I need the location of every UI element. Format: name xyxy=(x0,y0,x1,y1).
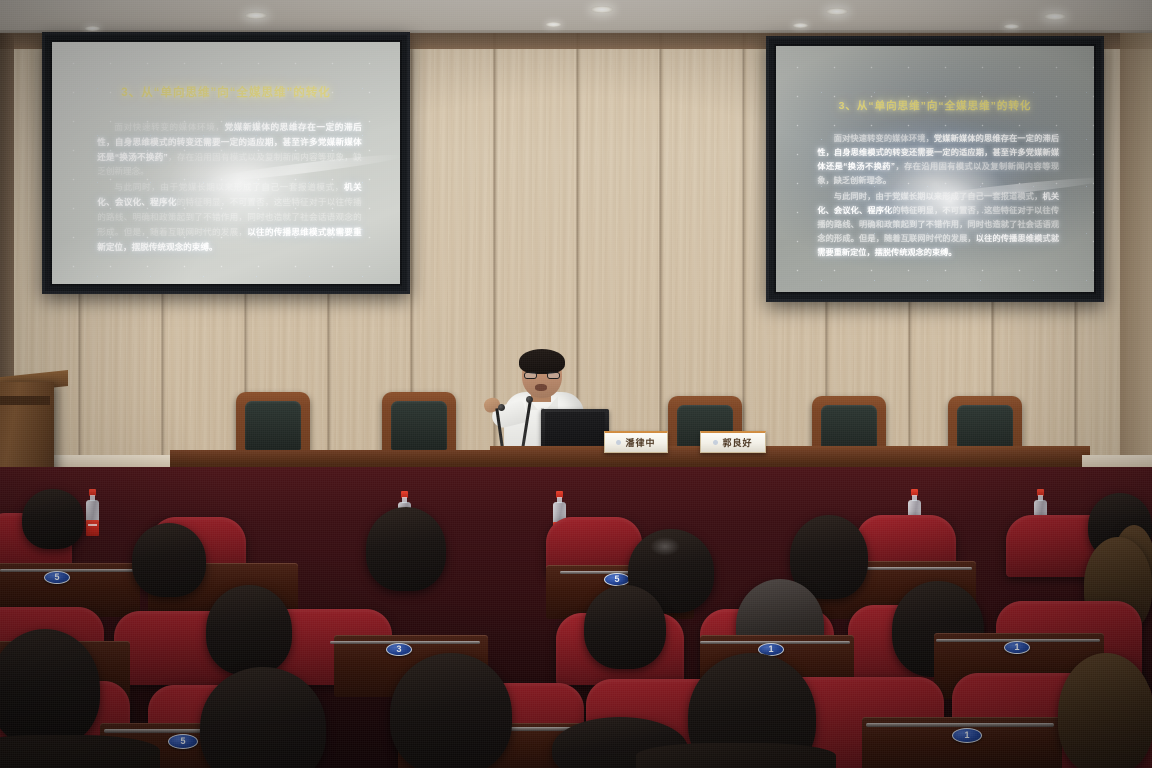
speaker-collar-right xyxy=(546,396,558,410)
audience-head xyxy=(390,653,512,768)
speaker-hair xyxy=(519,349,565,374)
seat-number-badge: 5 xyxy=(44,571,70,584)
ceiling-downlight xyxy=(546,22,561,27)
seat-number-label: 5 xyxy=(180,737,185,746)
seat-rail xyxy=(866,723,1054,727)
ceiling-downlight xyxy=(826,8,848,15)
slide-p1-seg1: 面对快速转变的媒体环境， xyxy=(114,122,224,132)
audience-head xyxy=(584,585,666,669)
nameplate: 潘律中 xyxy=(604,431,668,453)
screen-bezel-left: 3、从“单向思维”向“全媒思维”的转化 面对快速转变的媒体环境，党媒新媒体的思维… xyxy=(50,40,402,286)
audience-head xyxy=(132,523,206,597)
ceiling-downlight xyxy=(85,26,100,31)
bottle-label xyxy=(86,520,99,536)
audience-head xyxy=(0,629,100,747)
ceiling-downlight xyxy=(591,6,613,13)
nameplate: 郭良好 xyxy=(700,431,766,453)
seat-number-label: 1 xyxy=(964,731,969,740)
seat-number-badge: 5 xyxy=(168,734,198,749)
ceiling-downlight xyxy=(245,12,267,19)
slide-surface-right: 3、从“单向思维”向“全媒思维”的转化 面对快速转变的媒体环境，党媒新媒体的思维… xyxy=(776,46,1094,292)
water-bottle[interactable] xyxy=(86,489,99,537)
slide-surface-left: 3、从“单向思维”向“全媒思维”的转化 面对快速转变的媒体环境，党媒新媒体的思维… xyxy=(52,42,400,284)
microphone-head xyxy=(526,396,533,403)
nameplate-label: 潘律中 xyxy=(625,436,655,449)
seat-number-label: 5 xyxy=(614,575,619,584)
seat-number-label: 1 xyxy=(1014,643,1019,652)
ceiling-downlight xyxy=(793,23,808,28)
audience-head xyxy=(366,507,446,591)
nameplate-label: 郭良好 xyxy=(722,436,752,449)
seat-number-badge: 1 xyxy=(952,728,982,743)
projection-screen-left[interactable]: 3、从“单向思维”向“全媒思维”的转化 面对快速转变的媒体环境，党媒新媒体的思维… xyxy=(42,32,410,294)
wall-right-strip xyxy=(1120,33,1152,465)
ceiling-downlight xyxy=(1004,24,1019,29)
audience-head xyxy=(22,489,84,549)
water-bottle[interactable] xyxy=(761,414,774,462)
stage-chair[interactable] xyxy=(382,392,456,454)
microphone-head xyxy=(498,404,505,411)
projection-screen-right[interactable]: 3、从“单向思维”向“全媒思维”的转化 面对快速转变的媒体环境，党媒新媒体的思维… xyxy=(766,36,1104,302)
ceiling xyxy=(0,0,1152,34)
slide-p2-seg1: 与此同时，由于党媒长期以来形成了自己一套报道模式， xyxy=(114,182,344,192)
slide-p1-seg1: 面对快速转变的媒体环境， xyxy=(834,134,934,143)
slide-p1-seg3: “换汤不换药” xyxy=(843,162,895,171)
ceiling-downlight xyxy=(1044,13,1066,20)
lecture-hall-photo: 3、从“单向思维”向“全媒思维”的转化 面对快速转变的媒体环境，党媒新媒体的思维… xyxy=(0,0,1152,768)
stage-chair[interactable] xyxy=(236,392,310,454)
seat-number-label: 5 xyxy=(54,573,59,582)
slide-p2-seg1: 与此同时，由于党媒长期以来形成了自己一套报道模式， xyxy=(834,192,1043,201)
nameplate-emblem-icon xyxy=(713,440,718,445)
slide-body-left: 面对快速转变的媒体环境，党媒新媒体的思维存在一定的滞后性，自身思维模式的转变还需… xyxy=(97,120,362,256)
slide-title-left: 3、从“单向思维”向“全媒思维”的转化 xyxy=(73,84,379,100)
speaker-mouth xyxy=(535,384,547,391)
audience-seating-area: 5 5 3 1 xyxy=(0,467,1152,768)
seat-number-badge: 3 xyxy=(386,643,412,656)
screen-bezel-right: 3、从“单向思维”向“全媒思维”的转化 面对快速转变的媒体环境，党媒新媒体的思维… xyxy=(774,44,1096,294)
seat-rail xyxy=(0,569,136,572)
seat-number-label: 3 xyxy=(396,645,401,654)
podium-shelf xyxy=(0,396,50,405)
audience-head xyxy=(206,585,292,675)
audience-shoulders xyxy=(0,735,160,768)
slide-body-right: 面对快速转变的媒体环境，党媒新媒体的思维存在一定的滞后性，自身思维模式的转变还需… xyxy=(817,132,1059,261)
audience-shoulders xyxy=(636,743,836,768)
audience-head xyxy=(1058,653,1152,768)
slide-p1-seg3: “换汤不换药” xyxy=(115,152,168,162)
speaker-glasses xyxy=(524,372,537,379)
speaker-glasses xyxy=(547,372,560,379)
seat-number-badge: 1 xyxy=(1004,641,1030,654)
nameplate-emblem-icon xyxy=(616,440,621,445)
seat-number-label: 1 xyxy=(768,645,773,654)
slide-title-right: 3、从“单向思维”向“全媒思维”的转化 xyxy=(795,98,1075,113)
